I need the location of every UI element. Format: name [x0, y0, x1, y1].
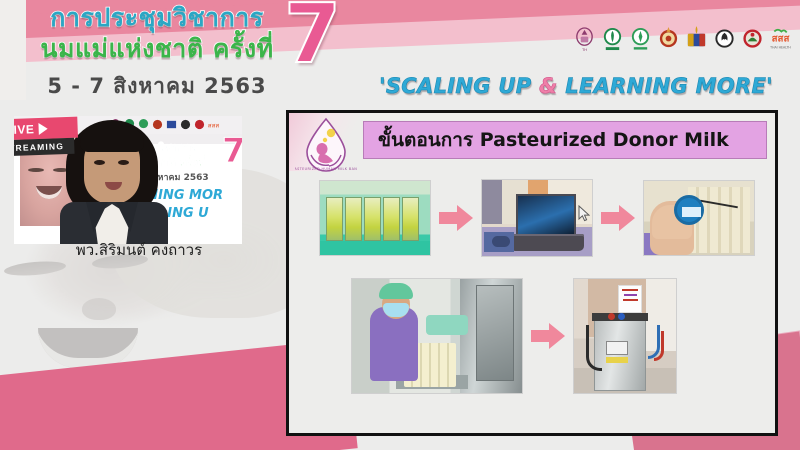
arrow-shaft [439, 212, 459, 224]
mouse-pointer [578, 205, 590, 223]
sponsor-logo-row: TH [573, 26, 792, 53]
pasteurizer-display [606, 341, 628, 355]
laptop-screen [516, 194, 576, 234]
thermometer-display [682, 207, 701, 217]
photo-milk-bottle-crates [319, 180, 431, 256]
svg-text:สสส: สสส [208, 123, 219, 130]
machine-door [476, 285, 514, 381]
nurse-surgical-cap [379, 283, 413, 299]
arrow-head [549, 323, 565, 349]
digital-thermometer-icon [674, 195, 704, 225]
slide-title-chip: ขั้นตอนการ Pasteurized Donor Milk [363, 121, 767, 159]
temple-emblem-logo [657, 26, 680, 53]
poster-logo-seal-icon [194, 118, 205, 131]
arrow-head [619, 205, 635, 231]
child-nose [82, 298, 116, 320]
royal-emblem-logo: TH [573, 26, 596, 53]
arrow-shaft [601, 212, 621, 224]
presenter-eye-right [118, 160, 129, 165]
presenter-name: พว.สิริมนต์ คงถาวร [24, 238, 254, 262]
child-eye-left [4, 259, 67, 277]
presenter-video-tile[interactable]: สสส การประชุมวิชาการ นมแม่แห่งชาติ ครั้ง… [14, 116, 242, 244]
poster-child-eye-left [28, 168, 44, 172]
conference-title: การประชุมวิชาการ นมแม่แห่งชาติ ครั้งที่ [22, 2, 292, 61]
tagline-part-1: 'SCALING UP [379, 74, 539, 98]
streaming-label: STREAMING [14, 138, 75, 157]
photo-pasteurizer-unit [573, 278, 677, 394]
green-drape [426, 315, 468, 335]
poster-logo-thaihealth-icon: สสส [208, 118, 219, 131]
arrow-head [457, 205, 473, 231]
slide-title-bar: PASTEURIZED HUMAN MILK BANK ขั้นตอนการ P… [289, 113, 775, 173]
slide-root: การประชุมวิชาการ นมแม่แห่งชาติ ครั้งที่ … [0, 0, 800, 450]
conference-title-line1: การประชุมวิชาการ [22, 2, 292, 30]
crate-1 [326, 197, 343, 241]
arrow-right-1-icon [439, 205, 473, 231]
header-banner: การประชุมวิชาการ นมแม่แห่งชาติ ครั้งที่ … [0, 0, 800, 100]
red-hose [654, 331, 664, 361]
svg-text:TH: TH [582, 48, 587, 52]
live-label: LIVE [14, 122, 35, 137]
live-streaming-badge: LIVE STREAMING [14, 117, 79, 162]
photo-nurse-loading-pasteurizer [351, 278, 523, 394]
poster-logo-garuda-icon [180, 118, 191, 131]
tagline-ampersand: & [539, 74, 558, 98]
royal-regalia-logo [685, 26, 708, 53]
black-hose [586, 325, 602, 371]
thaihealth-sss-logo: สสส THAI HEALTH [769, 26, 792, 53]
play-triangle-icon [38, 122, 47, 134]
crate-floor [320, 241, 430, 255]
computer-mouse [492, 236, 510, 247]
live-badge-top: LIVE [14, 117, 78, 141]
red-seal-logo [741, 26, 764, 53]
conference-date: 5 - 7 สิงหาคม 2563 [22, 70, 292, 100]
slide-title-text: ขั้นตอนการ Pasteurized Donor Milk [378, 125, 729, 155]
crate-3 [364, 197, 381, 241]
conference-tagline: 'SCALING UP & LEARNING MORE' [360, 74, 792, 98]
process-row-bottom [301, 271, 769, 401]
pasteurized-human-milk-drop-logo: PASTEURIZED HUMAN MILK BANK [295, 115, 357, 173]
svg-text:PASTEURIZED HUMAN MILK BANK: PASTEURIZED HUMAN MILK BANK [295, 167, 357, 171]
wall-notice-sign [618, 285, 642, 313]
department-health-logo [629, 26, 652, 53]
conference-title-line2: นมแม่แห่งชาติ ครั้งที่ [22, 30, 292, 61]
photo-temperature-probe [643, 180, 755, 256]
edition-number: 7 [284, 0, 341, 76]
crate-5 [402, 197, 419, 241]
pasteurizer-label [606, 357, 628, 363]
nurse-face-mask [383, 303, 409, 317]
arrow-right-2-icon [601, 205, 635, 231]
control-knob-blue [618, 313, 625, 320]
slide-panel: PASTEURIZED HUMAN MILK BANK ขั้นตอนการ P… [286, 110, 778, 436]
tagline-part-2: LEARNING MORE' [558, 74, 773, 98]
laptop-keyboard [510, 234, 584, 251]
svg-text:สสส: สสส [772, 33, 790, 44]
presenter-fringe [80, 126, 144, 152]
crate-4 [383, 197, 400, 241]
presenter-eye-left [94, 160, 105, 165]
svg-text:THAI HEALTH: THAI HEALTH [769, 45, 791, 49]
garuda-emblem-logo [713, 26, 736, 53]
process-row-top [301, 175, 769, 261]
arrow-shaft [531, 330, 551, 342]
arrow-right-3-icon [531, 323, 565, 349]
poster-edition-number: 7 [222, 134, 242, 168]
photo-laptop-workstation [481, 179, 593, 257]
control-knob-red [608, 313, 615, 320]
crate-2 [345, 197, 362, 241]
ministry-public-health-logo [601, 26, 624, 53]
